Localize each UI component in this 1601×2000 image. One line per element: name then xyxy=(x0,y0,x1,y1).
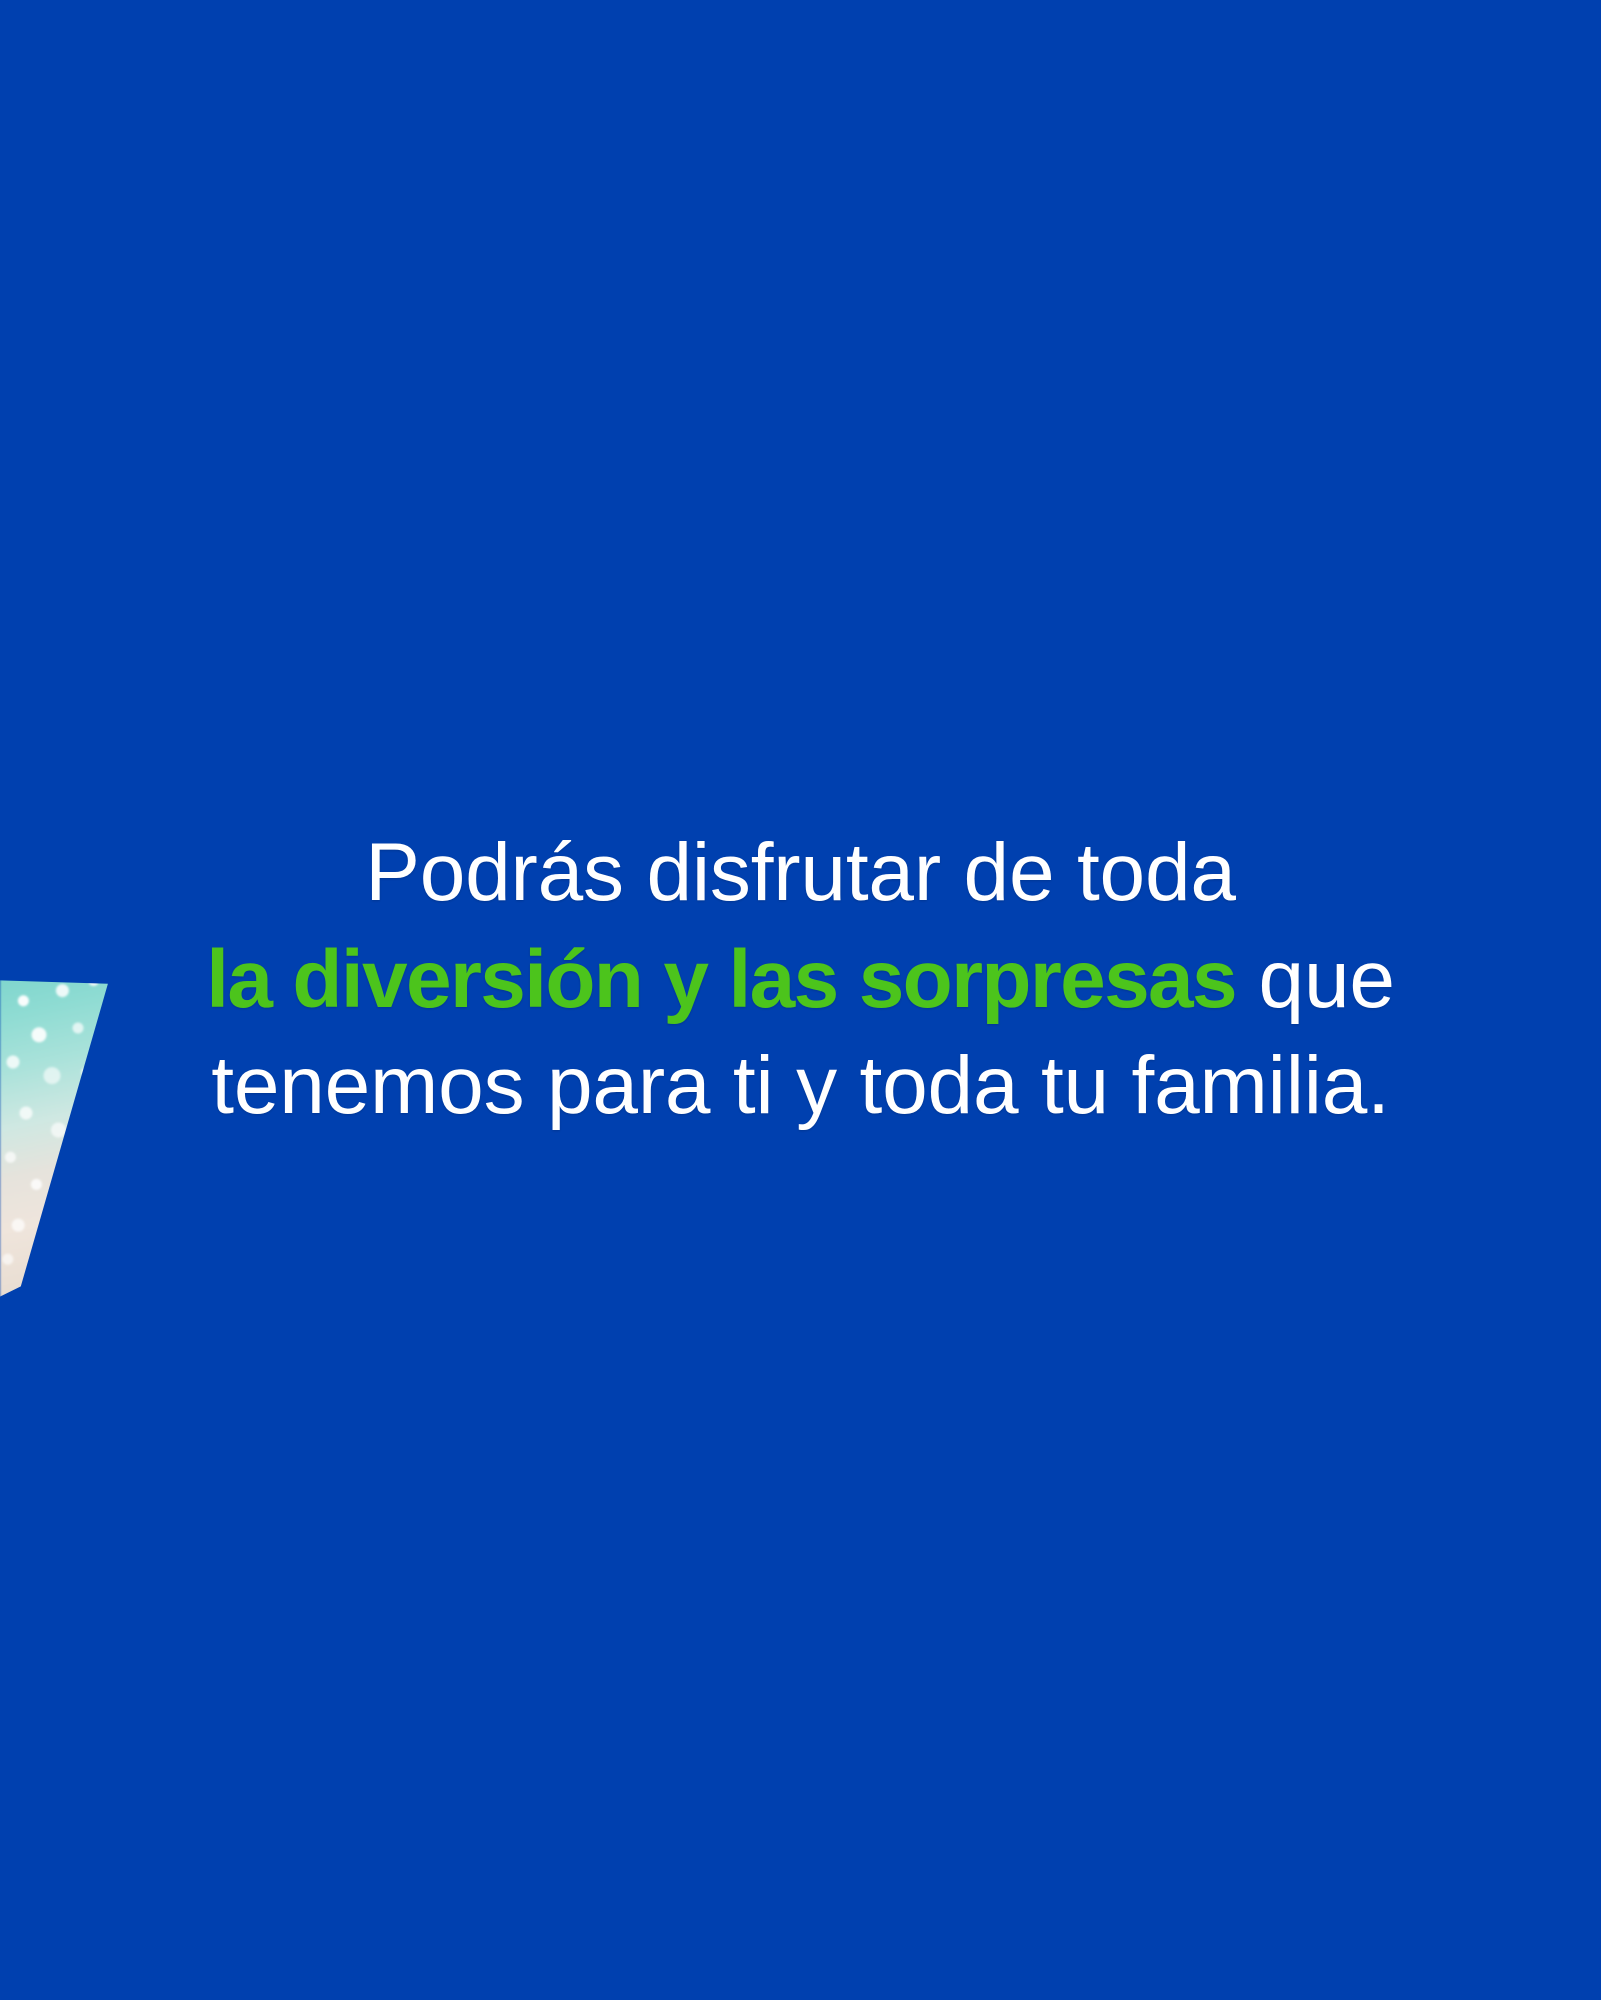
promo-slide: Podrás disfrutar de toda la diversión y … xyxy=(0,0,1601,2000)
headline-block: Podrás disfrutar de toda la diversión y … xyxy=(0,820,1601,1140)
headline-line-2-tail: que xyxy=(1236,934,1395,1025)
headline-line-2: la diversión y las sorpresas que xyxy=(0,927,1601,1034)
headline-line-3: tenemos para ti y toda tu familia. xyxy=(0,1033,1601,1140)
headline-line-1: Podrás disfrutar de toda xyxy=(0,820,1601,927)
headline-emphasis: la diversión y las sorpresas xyxy=(206,934,1236,1025)
